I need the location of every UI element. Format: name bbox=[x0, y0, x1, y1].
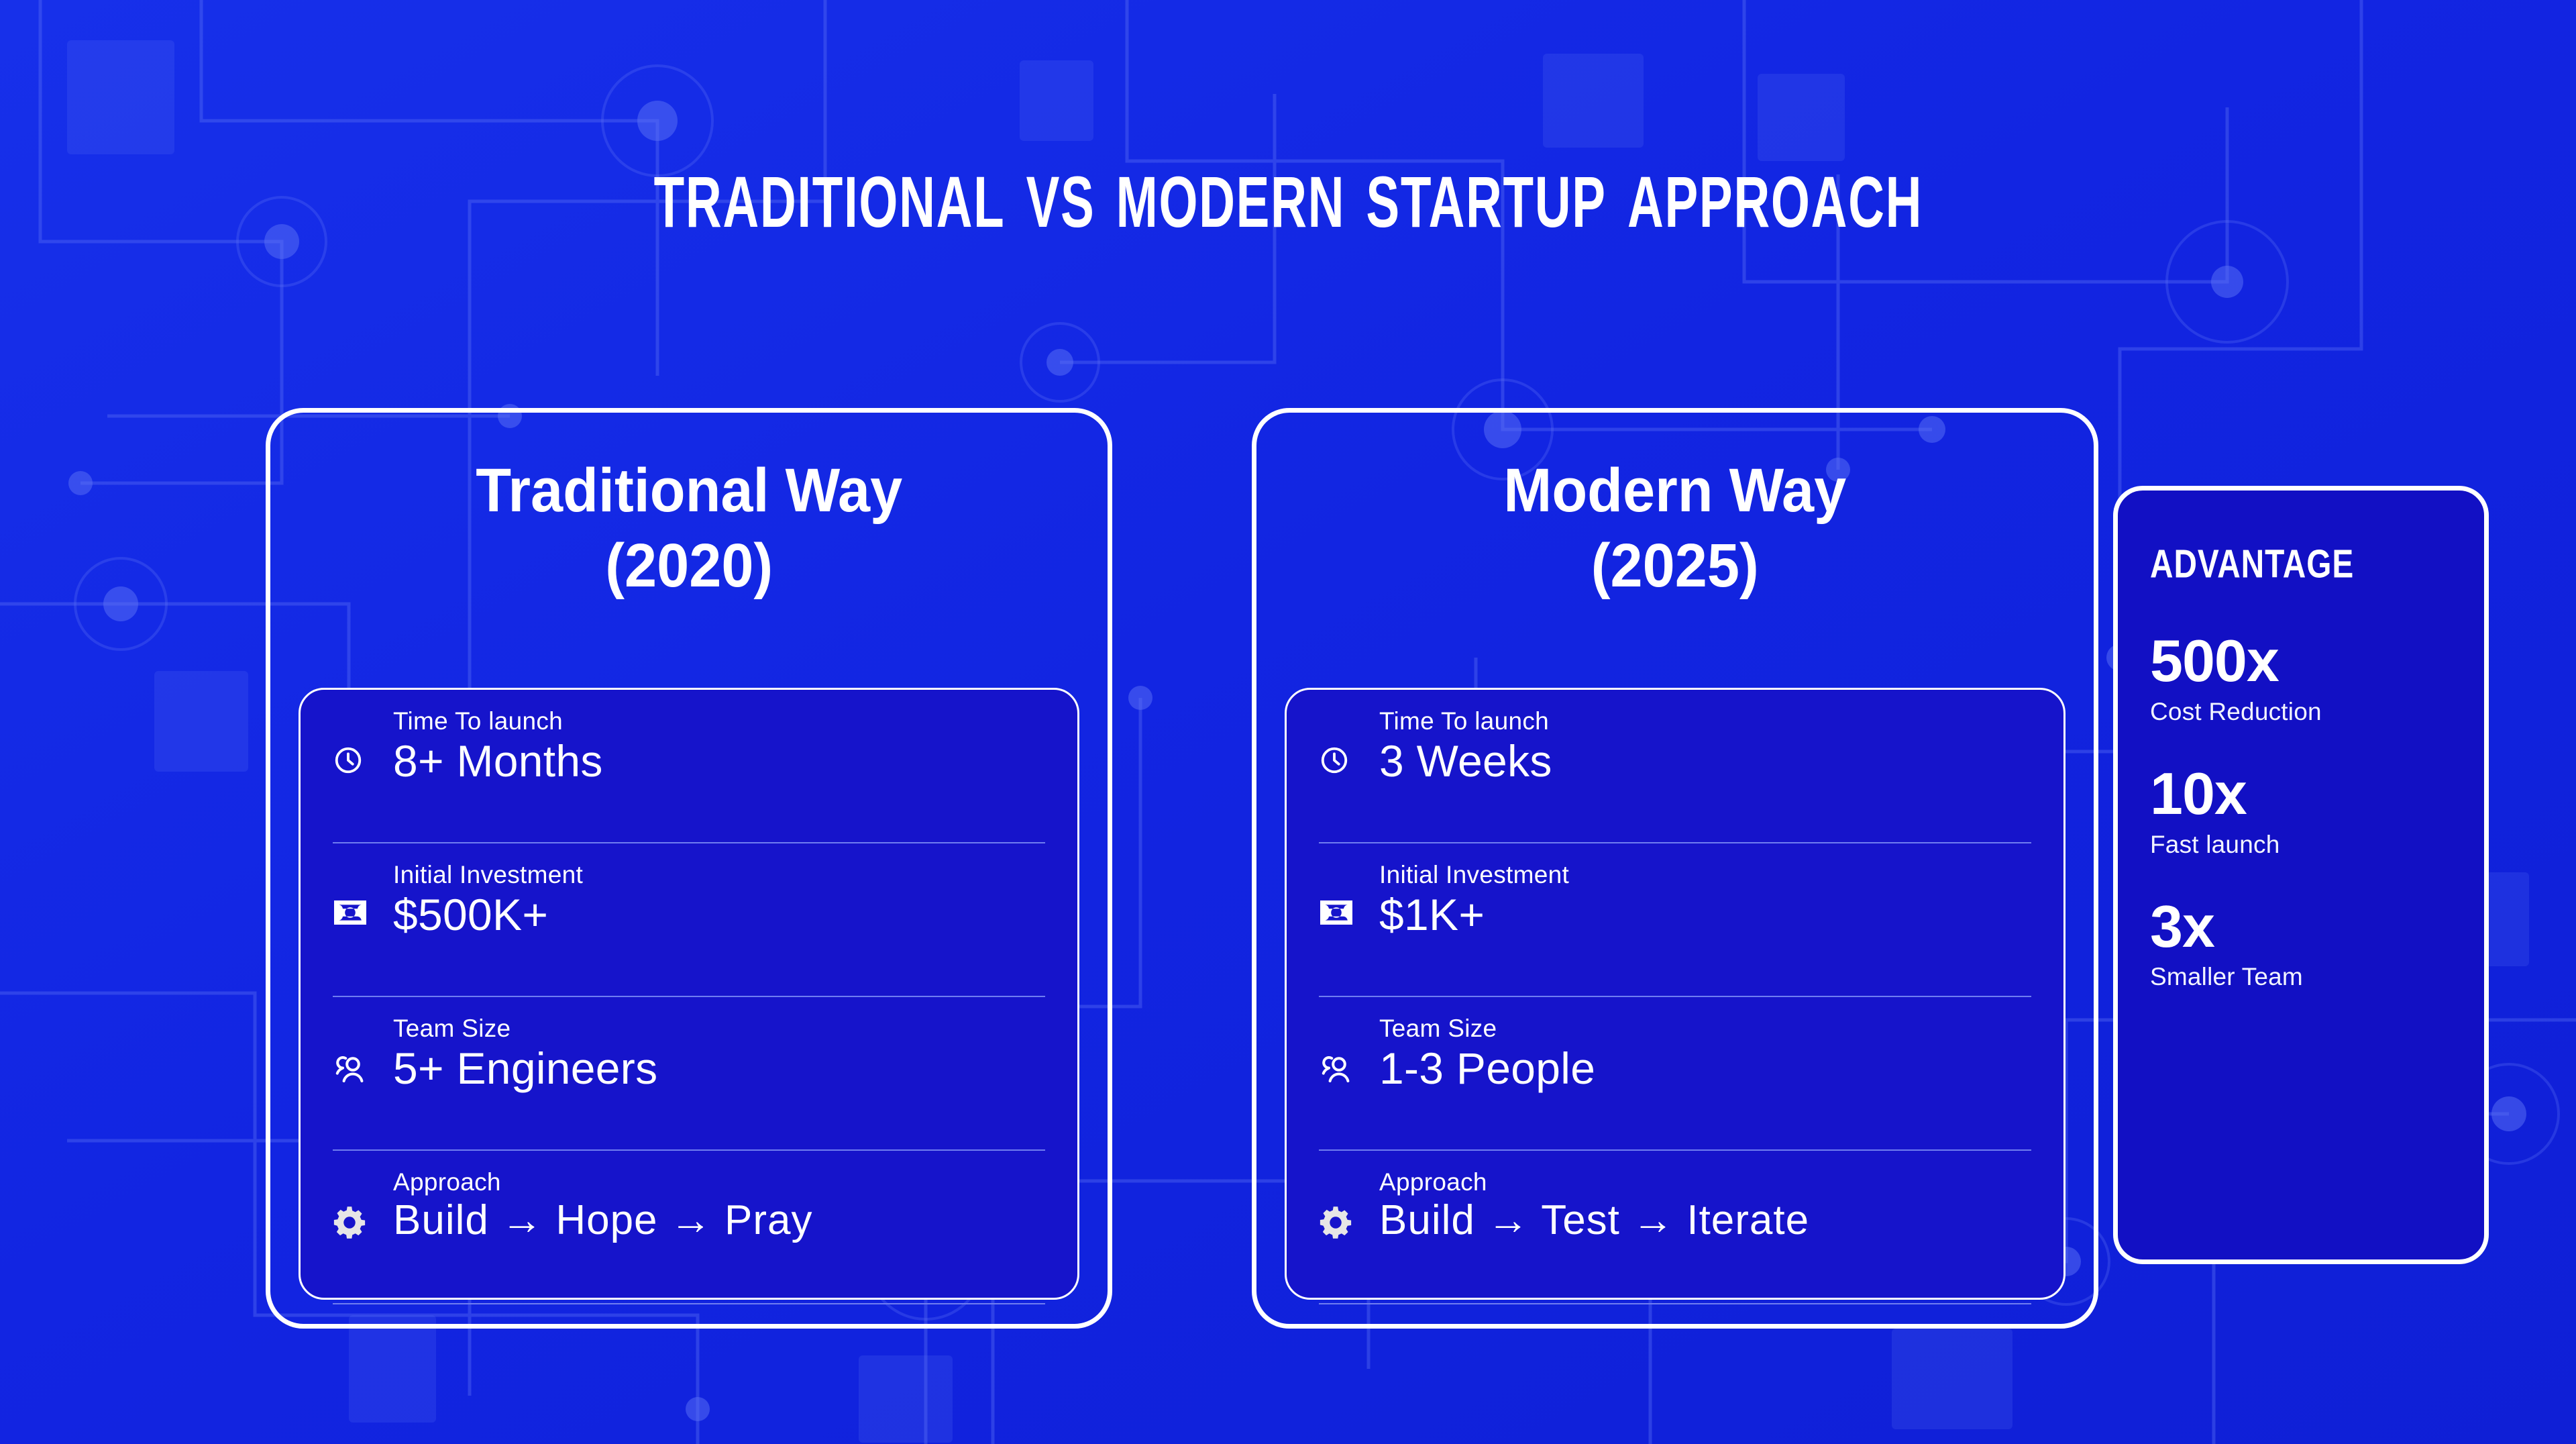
advantage-card: Advantage 500x Cost Reduction 10x Fast l… bbox=[2113, 486, 2489, 1264]
metric-label: Time To launch bbox=[1379, 709, 2031, 733]
metric-label: Initial Investment bbox=[393, 862, 1045, 887]
advantage-label: Fast launch bbox=[2150, 831, 2457, 859]
advantage-value: 500x bbox=[2150, 631, 2457, 691]
metric-row: Time To launch 8+ Months bbox=[333, 690, 1045, 843]
metric-label: Approach bbox=[393, 1170, 1045, 1194]
people-icon bbox=[1319, 1016, 1377, 1084]
metric-value: 8+ Months bbox=[393, 733, 1045, 789]
modern-way-card: Modern Way (2025) Time To launch 3 Weeks bbox=[1252, 408, 2098, 1329]
metric-value: $1K+ bbox=[1379, 887, 2031, 943]
traditional-card-year: (2020) bbox=[476, 528, 902, 603]
clock-icon bbox=[333, 709, 390, 776]
traditional-card-title-text: Traditional Way bbox=[476, 456, 902, 525]
metric-row: Team Size 1-3 People bbox=[1319, 997, 2031, 1151]
metric-text: Initial Investment $500K+ bbox=[390, 862, 1045, 943]
modern-card-year: (2025) bbox=[1504, 528, 1847, 603]
metric-value: 1-3 People bbox=[1379, 1041, 2031, 1096]
metric-value: Build → Test → Iterate bbox=[1379, 1194, 2031, 1247]
people-icon bbox=[333, 1016, 390, 1084]
page-title: Traditional Vs Modern Startup Approach bbox=[653, 140, 1923, 242]
metric-label: Team Size bbox=[1379, 1016, 2031, 1041]
metric-row: Team Size 5+ Engineers bbox=[333, 997, 1045, 1151]
advantage-item: 500x Cost Reduction bbox=[2150, 631, 2457, 726]
metric-value: 5+ Engineers bbox=[393, 1041, 1045, 1096]
traditional-card-title: Traditional Way (2020) bbox=[476, 453, 902, 603]
metric-label: Approach bbox=[1379, 1170, 2031, 1194]
traditional-metrics-panel: Time To launch 8+ Months Initial Investm… bbox=[299, 688, 1079, 1300]
metric-text: Initial Investment $1K+ bbox=[1377, 862, 2031, 943]
advantage-title: Advantage bbox=[2150, 525, 2432, 590]
banknote-icon bbox=[333, 862, 390, 927]
advantage-item: 10x Fast launch bbox=[2150, 764, 2457, 859]
metric-row: Time To launch 3 Weeks bbox=[1319, 690, 2031, 843]
metric-label: Time To launch bbox=[393, 709, 1045, 733]
gear-icon bbox=[1319, 1170, 1377, 1239]
metric-row: Approach Build → Test → Iterate bbox=[1319, 1151, 2031, 1304]
banknote-icon bbox=[1319, 862, 1377, 927]
advantage-value: 10x bbox=[2150, 764, 2457, 824]
metric-text: Time To launch 8+ Months bbox=[390, 709, 1045, 789]
page-header: Traditional Vs Modern Startup Approach bbox=[0, 140, 2576, 227]
clock-icon bbox=[1319, 709, 1377, 776]
metric-text: Team Size 5+ Engineers bbox=[390, 1016, 1045, 1096]
metric-value: 3 Weeks bbox=[1379, 733, 2031, 789]
modern-card-title-text: Modern Way bbox=[1504, 456, 1847, 525]
metric-row: Approach Build → Hope → Pray bbox=[333, 1151, 1045, 1304]
metric-row: Initial Investment $500K+ bbox=[333, 843, 1045, 997]
traditional-way-card: Traditional Way (2020) Time To launch 8+… bbox=[266, 408, 1112, 1329]
metric-text: Approach Build → Test → Iterate bbox=[1377, 1170, 2031, 1247]
advantage-label: Smaller Team bbox=[2150, 963, 2457, 991]
advantage-label: Cost Reduction bbox=[2150, 698, 2457, 726]
metric-text: Approach Build → Hope → Pray bbox=[390, 1170, 1045, 1247]
metric-value: $500K+ bbox=[393, 887, 1045, 943]
modern-card-title: Modern Way (2025) bbox=[1504, 453, 1847, 603]
metric-text: Time To launch 3 Weeks bbox=[1377, 709, 2031, 789]
advantage-value: 3x bbox=[2150, 896, 2457, 957]
advantage-item: 3x Smaller Team bbox=[2150, 896, 2457, 992]
metric-label: Initial Investment bbox=[1379, 862, 2031, 887]
modern-metrics-panel: Time To launch 3 Weeks Initial Investmen… bbox=[1285, 688, 2065, 1300]
metric-value: Build → Hope → Pray bbox=[393, 1194, 1045, 1247]
metric-row: Initial Investment $1K+ bbox=[1319, 843, 2031, 997]
metric-label: Team Size bbox=[393, 1016, 1045, 1041]
metric-text: Team Size 1-3 People bbox=[1377, 1016, 2031, 1096]
gear-icon bbox=[333, 1170, 390, 1239]
